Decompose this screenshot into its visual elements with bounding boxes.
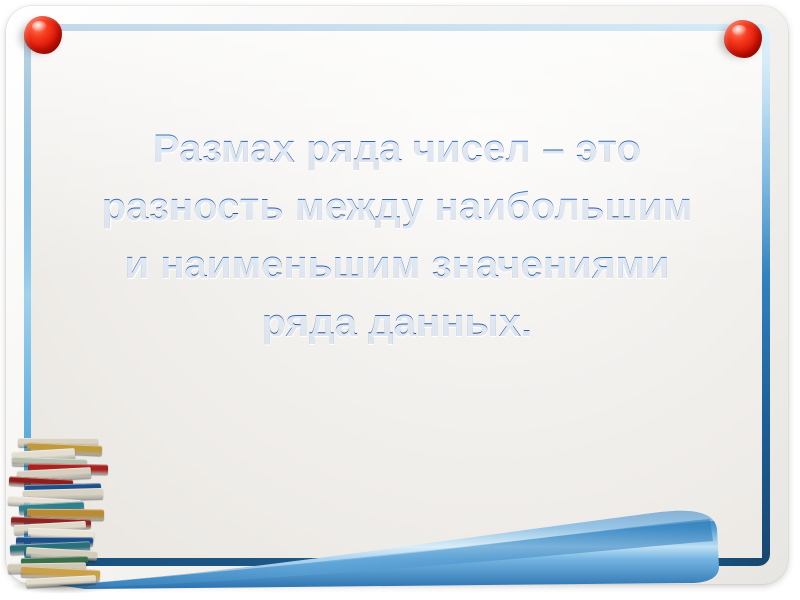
frame-edge-top <box>24 24 770 31</box>
headline-text-block: Размах ряда чисел – это Размах ряда чисе… <box>54 120 740 352</box>
headline-line-2-wrap: разность между наибольшим разность между… <box>54 178 740 236</box>
slide-page-surface: Размах ряда чисел – это Размах ряда чисе… <box>24 24 770 566</box>
frame-edge-right <box>762 24 770 566</box>
slide-canvas: Размах ряда чисел – это Размах ряда чисе… <box>0 0 800 600</box>
headline-line-3-wrap: и наименьшим значениями и наименьшим зна… <box>54 236 740 294</box>
push-pin-shadow <box>20 21 58 53</box>
slide-frame-card: Размах ряда чисел – это Размах ряда чисе… <box>6 6 788 584</box>
push-pin-shadow <box>720 25 758 57</box>
headline-line-1: Размах ряда чисел – это <box>54 120 740 178</box>
push-pin-head <box>24 16 62 54</box>
headline-line-1-wrap: Размах ряда чисел – это Размах ряда чисе… <box>54 120 740 178</box>
headline-line-4: ряда данных. <box>54 294 740 352</box>
push-pin-top-right-icon <box>718 16 764 62</box>
book-stack-icon <box>2 419 122 594</box>
frame-edge-bottom <box>24 558 770 566</box>
push-pin-head <box>724 20 762 58</box>
push-pin-highlight <box>32 21 47 32</box>
headline-line-3: и наименьшим значениями <box>54 236 740 294</box>
push-pin-highlight <box>732 25 747 36</box>
push-pin-top-left-icon <box>18 12 64 58</box>
headline-line-4-wrap: ряда данных. ряда данных. <box>54 294 740 352</box>
headline-line-2: разность между наибольшим <box>54 178 740 236</box>
